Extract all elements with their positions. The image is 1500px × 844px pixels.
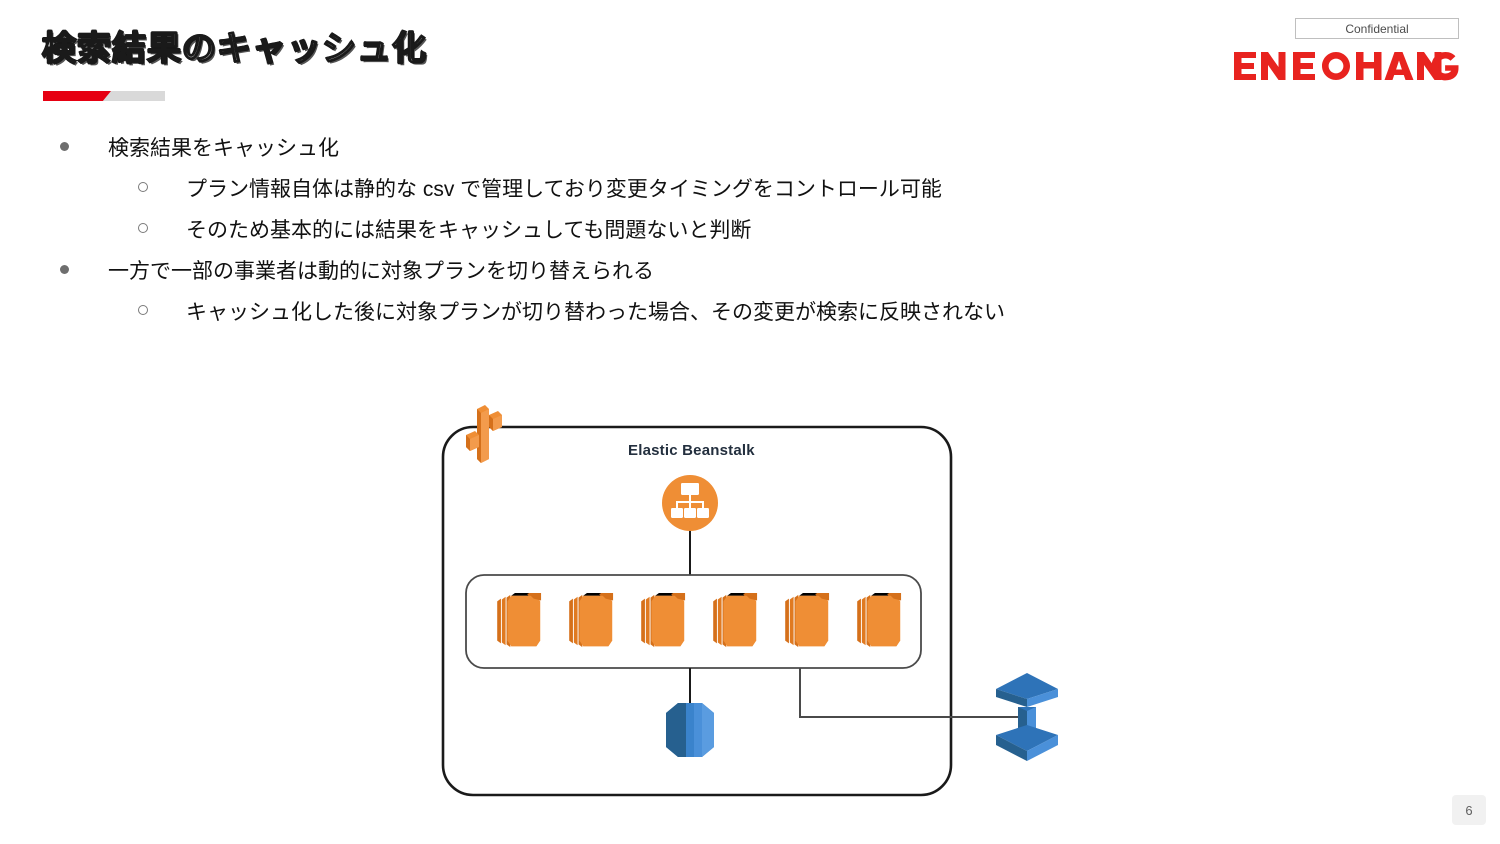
bullet-text: 一方で一部の事業者は動的に対象プランを切り替えられる <box>108 251 654 292</box>
ec2-instance-icon <box>497 593 541 647</box>
confidential-badge: Confidential <box>1295 18 1459 39</box>
title-accent-bar <box>43 91 165 101</box>
bullet-item: そのため基本的には結果をキャッシュしても問題ないと判断 <box>60 210 1420 251</box>
ec2-instance-icon <box>857 593 901 647</box>
bullet-text: そのため基本的には結果をキャッシュしても問題ないと判断 <box>186 210 751 251</box>
accent-bar-red-segment <box>43 91 111 101</box>
bullet-hollow-dot-icon <box>138 305 186 315</box>
bullet-text: キャッシュ化した後に対象プランが切り替わった場合、その変更が検索に反映されない <box>186 292 1005 333</box>
bullet-list: 検索結果をキャッシュ化 プラン情報自体は静的な csv で管理しており変更タイミ… <box>60 128 1420 333</box>
bullet-item: 一方で一部の事業者は動的に対象プランを切り替えられる <box>60 251 1420 292</box>
bullet-filled-dot-icon <box>60 142 108 151</box>
page-number: 6 <box>1452 795 1486 825</box>
diagram-label-elastic-beanstalk: Elastic Beanstalk <box>628 442 755 459</box>
page-title: 検索結果のキャッシュ化 <box>42 30 427 69</box>
bullet-text: 検索結果をキャッシュ化 <box>108 128 339 169</box>
enechange-logo <box>1234 50 1462 84</box>
bullet-item: プラン情報自体は静的な csv で管理しており変更タイミングをコントロール可能 <box>60 169 1420 210</box>
rds-database-icon <box>666 703 714 757</box>
load-balancer-icon <box>662 475 718 531</box>
bullet-text: プラン情報自体は静的な csv で管理しており変更タイミングをコントロール可能 <box>186 169 942 210</box>
ec2-instance-icon <box>569 593 613 647</box>
bullet-filled-dot-icon <box>60 265 108 274</box>
bullet-item: 検索結果をキャッシュ化 <box>60 128 1420 169</box>
bullet-hollow-dot-icon <box>138 182 186 192</box>
ec2-instance-icon <box>713 593 757 647</box>
bullet-item: キャッシュ化した後に対象プランが切り替わった場合、その変更が検索に反映されない <box>60 292 1420 333</box>
ec2-instance-icon <box>785 593 829 647</box>
aws-architecture-diagram <box>430 395 1080 815</box>
ec2-instance-icon <box>641 593 685 647</box>
bullet-hollow-dot-icon <box>138 223 186 233</box>
